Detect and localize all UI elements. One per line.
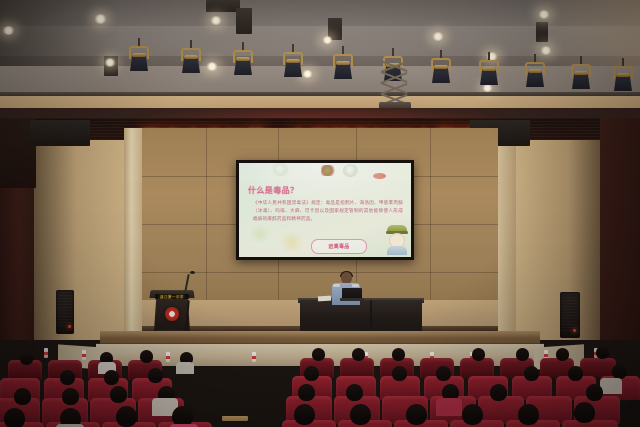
audience-head xyxy=(14,388,31,405)
slide-body-text: 《中华人民共和国禁毒法》规定：毒品是指鸦片、海洛因、甲基苯丙胺（冰毒）、吗啡、大… xyxy=(253,199,403,223)
cartoon-police-officer xyxy=(386,225,408,255)
slide-decoration xyxy=(249,225,271,243)
par-stage-light xyxy=(478,56,500,86)
audience-head xyxy=(312,348,325,361)
audience-head xyxy=(350,404,371,425)
audience-head xyxy=(294,404,315,425)
downlight xyxy=(94,14,107,24)
par-stage-light xyxy=(282,48,304,78)
slide-leaf-illustration xyxy=(273,163,288,176)
school-emblem xyxy=(165,307,179,321)
audience-shirt xyxy=(436,398,462,416)
audience-head xyxy=(392,366,407,381)
light-stem xyxy=(138,38,140,46)
audience-shirt xyxy=(600,378,622,394)
stage-floor-sheen xyxy=(100,331,540,338)
slide-bubble-text: 远离毒品 xyxy=(328,243,349,250)
audience-head xyxy=(62,388,79,405)
downlight xyxy=(206,62,218,71)
projection-screen-frame: 什么是毒品？ 《中华人民共和国禁毒法》规定：毒品是指鸦片、海洛因、甲基苯丙胺（冰… xyxy=(236,160,414,260)
downlight xyxy=(322,36,333,44)
downlight xyxy=(2,26,15,35)
par-stage-light xyxy=(524,58,546,88)
slide-leaf-illustration xyxy=(373,173,386,179)
audience-head xyxy=(304,366,319,381)
downlight xyxy=(210,16,222,25)
left-wall-panel xyxy=(34,140,128,340)
papers-on-table xyxy=(318,296,331,302)
officer-body xyxy=(387,246,407,255)
audience-head xyxy=(346,384,363,401)
audience-shirt xyxy=(176,362,194,374)
audience-head xyxy=(462,404,483,425)
auditorium-photo: 西安市曲江第一中学禁毒知识主题讲座 什么是毒品？ 《中华人民共和国禁毒法》规定：… xyxy=(0,0,640,427)
audience-head xyxy=(352,348,365,361)
right-dark-wall-trim xyxy=(600,118,640,340)
ceiling-vent xyxy=(236,8,252,34)
downlight xyxy=(538,10,550,19)
audience-head xyxy=(518,404,539,425)
audience-head xyxy=(20,352,33,365)
audience-head xyxy=(436,366,451,381)
laptop xyxy=(340,288,364,301)
left-wall-monitor xyxy=(30,120,90,146)
par-stage-light xyxy=(430,54,452,84)
slide-poppy-illustration xyxy=(321,165,337,176)
ceiling-vent xyxy=(536,22,548,42)
uniform-epaulette xyxy=(352,284,359,287)
seat xyxy=(340,358,374,378)
audience-area xyxy=(0,344,640,427)
audience-head xyxy=(148,368,163,383)
floor-speaker-left xyxy=(56,290,74,334)
seat-tablet-arm xyxy=(222,416,248,421)
right-pilaster xyxy=(498,128,516,340)
audience-head xyxy=(298,384,315,401)
audience-head xyxy=(60,370,75,385)
audience-head xyxy=(612,364,627,379)
seat xyxy=(580,358,616,378)
slide-speech-bubble: 远离毒品 xyxy=(311,239,367,254)
par-stage-light xyxy=(128,42,150,72)
floor-speaker-right xyxy=(560,292,580,338)
right-wall-panel xyxy=(510,140,600,340)
left-pilaster xyxy=(124,128,142,340)
slide-decoration xyxy=(279,231,305,253)
seat xyxy=(460,358,494,378)
audience-head xyxy=(586,384,603,401)
audience-head xyxy=(406,404,427,425)
panel-seam xyxy=(142,272,498,273)
microphone-head xyxy=(190,271,195,274)
audience-head xyxy=(574,402,595,423)
par-stage-light xyxy=(332,50,354,80)
slide-title: 什么是毒品？ xyxy=(248,185,298,196)
uniform-epaulette xyxy=(333,284,340,287)
par-stage-light xyxy=(232,46,254,76)
podium-led-text: 曲江第一中学 xyxy=(160,294,184,299)
audience-head xyxy=(104,370,119,385)
audience-head xyxy=(596,346,609,359)
audience-head xyxy=(140,350,153,363)
audience-head xyxy=(392,348,405,361)
audience-head xyxy=(490,384,507,401)
slide-leaf-illustration xyxy=(343,164,358,177)
par-stage-light xyxy=(570,60,592,90)
podium-led-display: 曲江第一中学 xyxy=(155,294,189,299)
scissor-arms xyxy=(378,60,412,104)
audience-head xyxy=(116,406,137,427)
par-stage-light xyxy=(612,62,634,92)
audience-head xyxy=(4,408,25,427)
audience-head xyxy=(568,366,583,381)
audience-head xyxy=(472,348,485,361)
audience-head xyxy=(524,366,539,381)
ceiling-vent xyxy=(206,0,240,12)
par-stage-light xyxy=(180,44,202,74)
downlight xyxy=(104,58,116,67)
downlight xyxy=(540,46,552,55)
audience-head xyxy=(556,348,569,361)
audience-head xyxy=(110,386,127,403)
laptop-base xyxy=(340,298,364,301)
downlight xyxy=(432,32,444,41)
audience-head xyxy=(516,348,529,361)
projection-screen: 什么是毒品？ 《中华人民共和国禁毒法》规定：毒品是指鸦片、海洛因、甲基苯丙胺（冰… xyxy=(239,163,411,257)
lighting-truss-bar xyxy=(0,92,640,96)
light-lens xyxy=(132,53,146,57)
